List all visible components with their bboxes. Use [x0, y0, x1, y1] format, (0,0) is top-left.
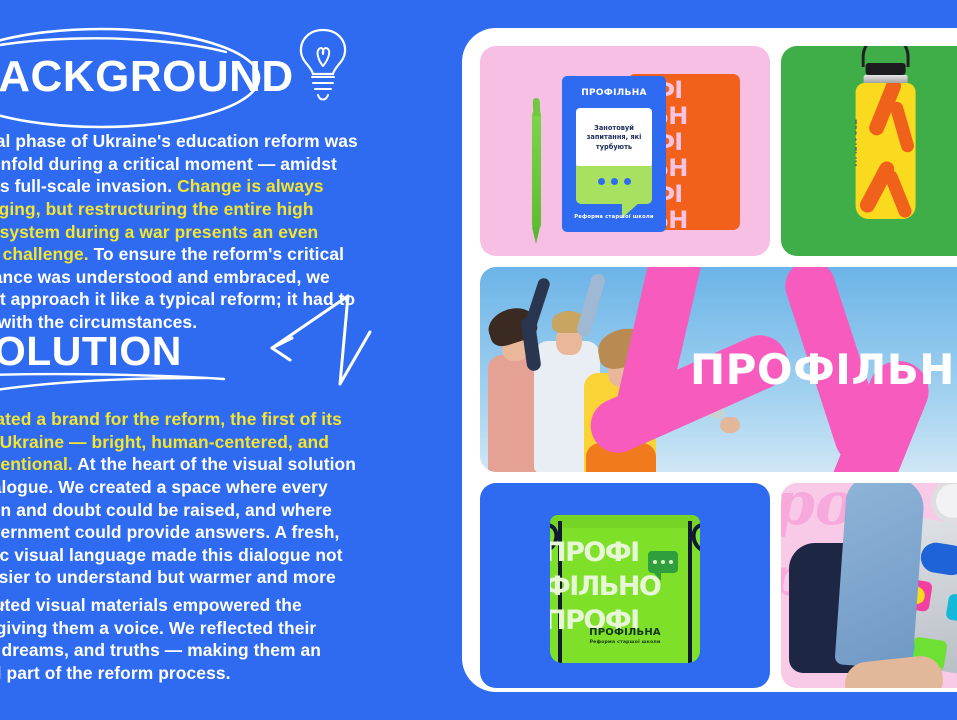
- bottle-cap: [865, 63, 905, 75]
- teen-hand: [720, 417, 740, 433]
- notebook-footer: Реформа старшої школи: [562, 214, 666, 220]
- notebook-brand-logo: ПРОФІЛЬНА: [562, 88, 666, 98]
- headphones: [931, 483, 957, 523]
- speech-bubble-icon: [576, 166, 652, 204]
- bag-logo: ПРОФІЛЬНА Реформа старшої школи: [550, 626, 700, 644]
- bag-card[interactable]: ПРОФІ ФІЛЬНО ПРОФІ ПРОФІЛЬНА Реформа ста…: [480, 483, 770, 688]
- solution-paragraph-b: Distributed visual materials empowered t…: [0, 594, 358, 685]
- gallery-grid: ОФІ ЛЬН ОФІ ЛЬН ОФІ ЛЬН ПРОФІЛЬНА Заното…: [480, 46, 957, 674]
- notebook-cover: ПРОФІЛЬНА Занотовуй запитання, які турбу…: [562, 76, 666, 232]
- ellipsis-dots: [576, 178, 652, 185]
- squiggle-decor: [882, 168, 913, 219]
- green-pen: [532, 112, 541, 228]
- zigzag-arrow-doodle-icon: [248, 284, 378, 402]
- bag-top-hem: [550, 514, 700, 527]
- solution-heading-block: SOLUTION: [0, 328, 228, 394]
- notebook-headline-bubble: Занотовуй запитання, які турбують: [576, 108, 652, 168]
- solution-text-closing: Distributed visual materials empowered t…: [0, 595, 321, 683]
- bag-logo-subtext: Реформа старшої школи: [550, 639, 700, 644]
- background-heading-block: BACKGROUND: [0, 22, 268, 134]
- left-content-column: BACKGROUND The final phase of Ukraine's …: [0, 0, 462, 720]
- notebook-headline: Занотовуй запитання, які турбують: [576, 124, 652, 153]
- student-photo-card[interactable]: ро ро: [781, 483, 957, 688]
- sticker-cyan: [945, 593, 957, 624]
- bottle-group: ПРОФІЛЬНА: [855, 83, 915, 219]
- drawstring-bag: ПРОФІ ФІЛЬНО ПРОФІ ПРОФІЛЬНА Реформа ста…: [550, 514, 700, 662]
- solution-paragraph-a: We created a brand for the reform, the f…: [0, 408, 358, 612]
- page-title: BACKGROUND: [0, 52, 294, 102]
- photo-overlay-word: ПРОФІЛЬНО: [690, 345, 957, 394]
- teens-photo-card[interactable]: ПРОФІЛЬНО: [480, 267, 957, 472]
- solution-text-body: At the heart of the visual solution was …: [0, 454, 356, 610]
- solution-title: SOLUTION: [0, 328, 182, 375]
- bag-logo-text: ПРОФІЛЬНА: [589, 626, 661, 637]
- bag-pattern-line: ПРОФІ: [550, 536, 639, 567]
- water-bottle: ПРОФІЛЬНА: [855, 83, 915, 219]
- denim-sleeve: [834, 483, 925, 669]
- teen-arm: [575, 272, 606, 337]
- speech-bubble-icon: [648, 550, 678, 572]
- bottle-brand-text: ПРОФІЛЬНА: [855, 119, 857, 168]
- lightbulb-sketch-icon: [292, 26, 354, 106]
- squiggle-decor: [888, 100, 915, 154]
- sticker-brand: [919, 541, 957, 578]
- hand-drawn-underline: [0, 370, 228, 396]
- gallery-panel: ОФІ ЛЬН ОФІ ЛЬН ОФІ ЛЬН ПРОФІЛЬНА Заното…: [462, 28, 957, 692]
- bag-pattern-line: ФІЛЬНО: [550, 570, 660, 601]
- bottle-card[interactable]: ПРОФІЛЬНА: [781, 46, 957, 256]
- notebook-card[interactable]: ОФІ ЛЬН ОФІ ЛЬН ОФІ ЛЬН ПРОФІЛЬНА Заното…: [480, 46, 770, 256]
